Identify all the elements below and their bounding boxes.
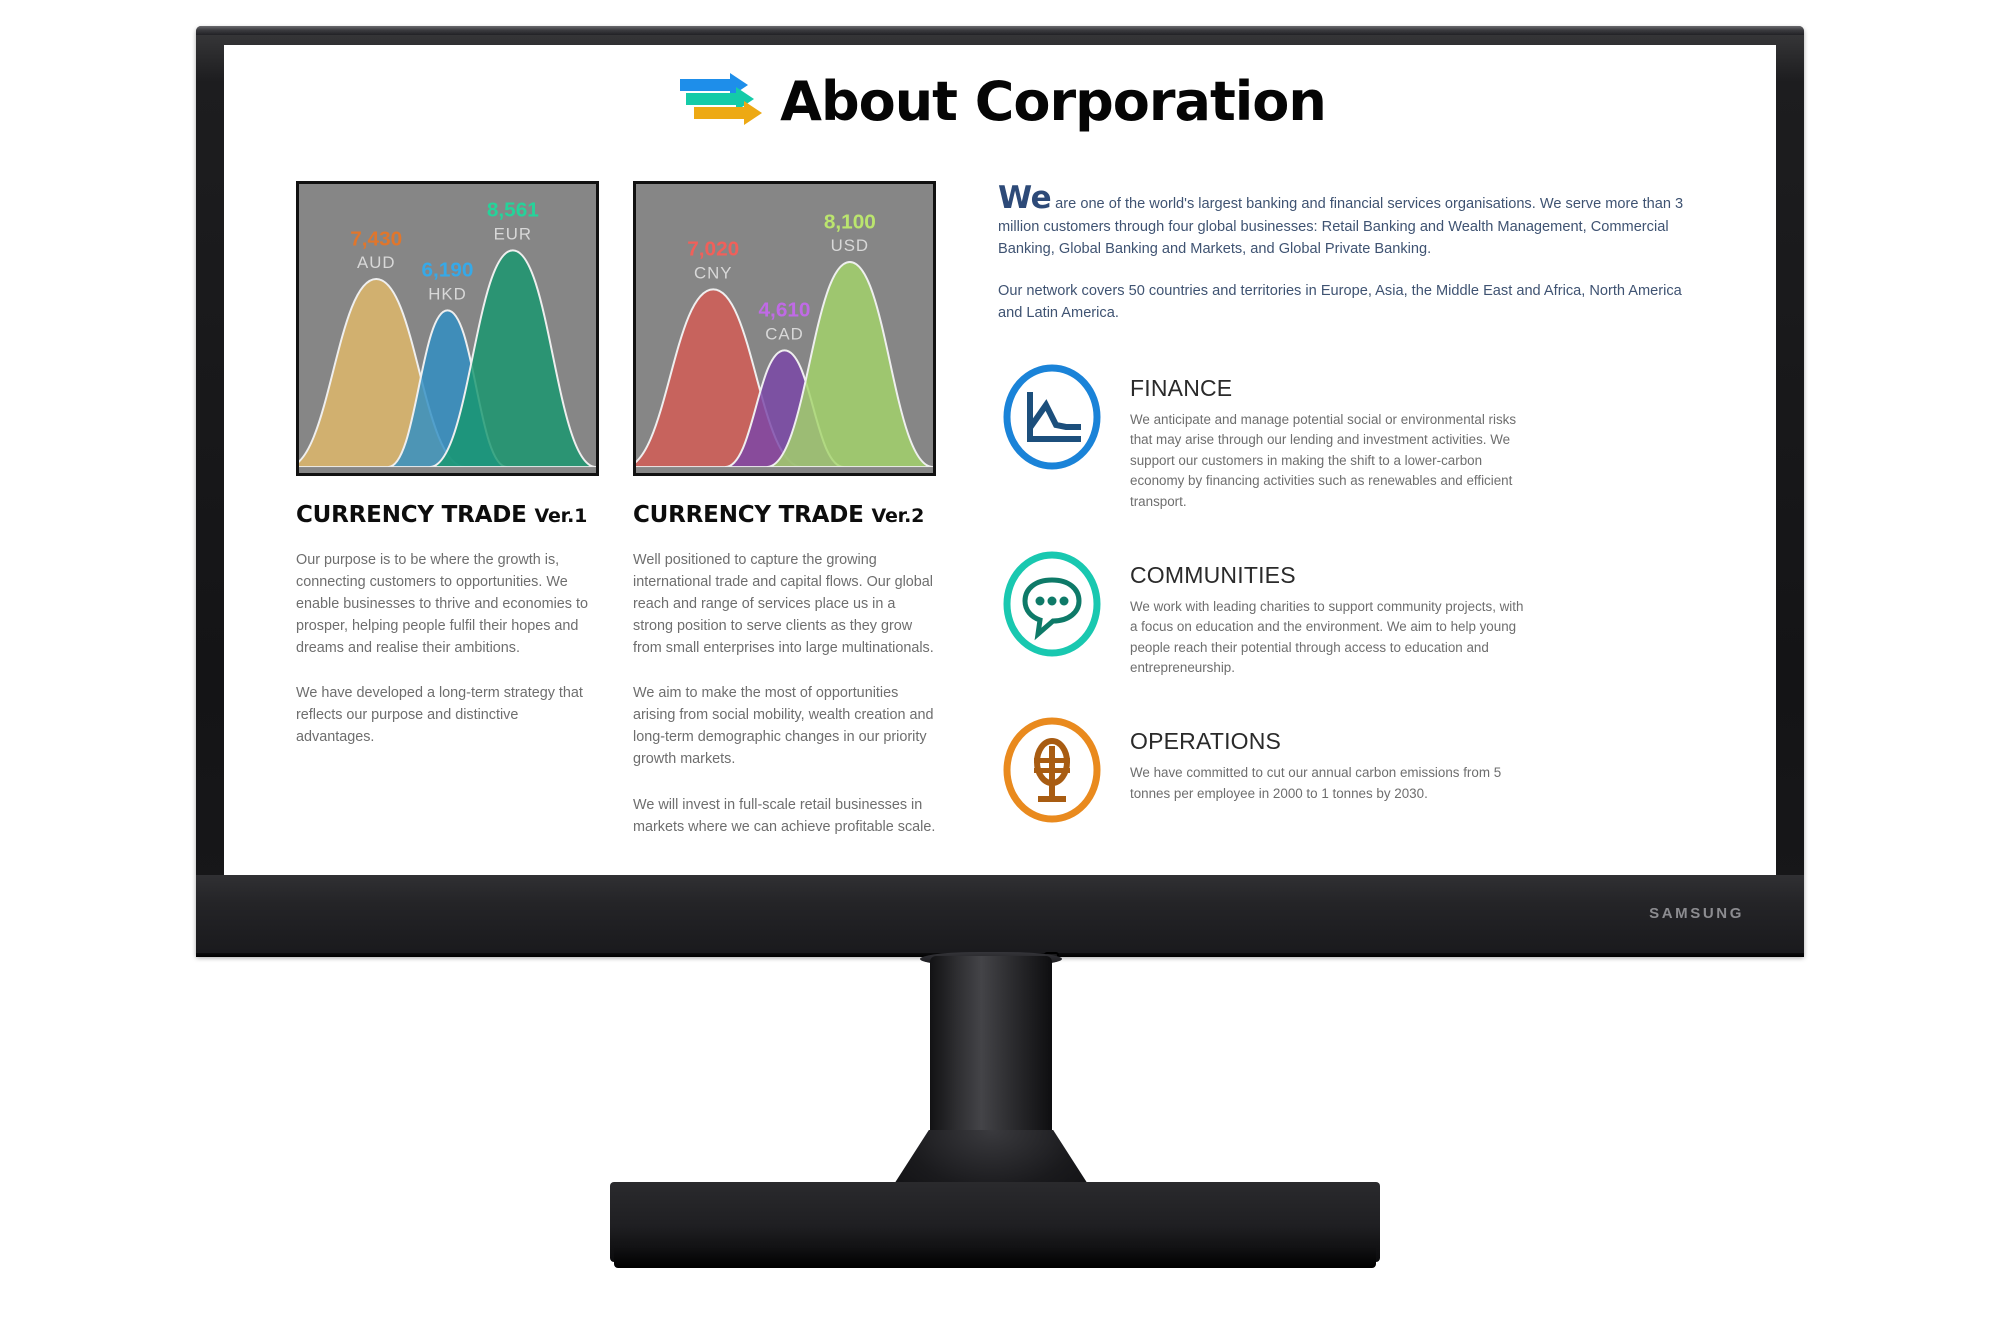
line-chart-icon — [998, 363, 1106, 471]
trade-columns: 7,430AUD6,190HKD8,561EUR CURRENCY TRADE … — [296, 181, 936, 862]
bezel-top-highlight — [196, 26, 1804, 35]
intro-lead-rest: are one of the world's largest banking a… — [998, 196, 1683, 257]
presentation-slide: About Corporation 7,430AUD6 — [224, 45, 1776, 875]
trade-heading-1-main: CURRENCY TRADE — [296, 502, 527, 528]
pillar-description: We work with leading charities to suppor… — [1130, 597, 1530, 679]
trade-column-2: 7,020CNY4,610CAD8,100USD CURRENCY TRADE … — [633, 181, 936, 862]
trade-paragraph: Well positioned to capture the growing i… — [633, 550, 936, 659]
trade-heading-1: CURRENCY TRADE Ver.1 — [296, 502, 599, 528]
currency-chart-1: 7,430AUD6,190HKD8,561EUR — [296, 181, 599, 476]
trade-paragraph: We have developed a long-term strategy t… — [296, 683, 599, 749]
currency-chart-1-labels: 7,430AUD6,190HKD8,561EUR — [299, 184, 596, 473]
speech-bubble-icon — [998, 550, 1106, 658]
trade-paragraph: We aim to make the most of opportunities… — [633, 683, 936, 771]
monitor-stand-base-edge — [614, 1248, 1376, 1268]
chart-currency-label: HKD — [428, 284, 466, 303]
slide-header: About Corporation — [224, 71, 1776, 133]
chart-currency-label: EUR — [494, 224, 532, 243]
pillar-title: OPERATIONS — [1130, 728, 1704, 755]
pillar-list: FINANCE We anticipate and manage potenti… — [998, 363, 1704, 824]
trade-heading-2-version: Ver.2 — [872, 505, 925, 527]
chart-currency-label: AUD — [357, 253, 395, 272]
chart-currency-label: CNY — [694, 263, 732, 282]
pillar-communities: COMMUNITIES We work with leading chariti… — [998, 550, 1704, 679]
monitor-assembly: About Corporation 7,430AUD6 — [0, 0, 2000, 1333]
intro-second-paragraph: Our network covers 50 countries and terr… — [998, 280, 1704, 325]
trade-paragraph: Our purpose is to be where the growth is… — [296, 550, 599, 659]
trade-heading-1-version: Ver.1 — [535, 505, 588, 527]
microphone-icon — [998, 716, 1106, 824]
chart-currency-label: CAD — [765, 324, 803, 343]
pillar-communities-text: COMMUNITIES We work with leading chariti… — [1130, 550, 1704, 679]
pillar-description: We have committed to cut our annual carb… — [1130, 763, 1530, 804]
slide-body: 7,430AUD6,190HKD8,561EUR CURRENCY TRADE … — [224, 133, 1776, 862]
monitor-screen: About Corporation 7,430AUD6 — [224, 45, 1776, 875]
pillar-description: We anticipate and manage potential socia… — [1130, 410, 1530, 512]
currency-chart-2: 7,020CNY4,610CAD8,100USD — [633, 181, 936, 476]
pillar-title: FINANCE — [1130, 375, 1704, 402]
chart-value-label: 7,020 — [687, 238, 739, 261]
chart-currency-label: USD — [831, 236, 869, 255]
chart-value-label: 7,430 — [350, 227, 402, 250]
about-column: We are one of the world's largest bankin… — [936, 181, 1704, 862]
trade-heading-2-main: CURRENCY TRADE — [633, 502, 864, 528]
chart-value-label: 6,190 — [422, 259, 474, 282]
trade-column-1: 7,430AUD6,190HKD8,561EUR CURRENCY TRADE … — [296, 181, 599, 862]
pillar-operations: OPERATIONS We have committed to cut our … — [998, 716, 1704, 824]
trade-heading-2: CURRENCY TRADE Ver.2 — [633, 502, 936, 528]
pillar-title: COMMUNITIES — [1130, 562, 1704, 589]
page-title: About Corporation — [780, 75, 1326, 129]
samsung-brand-label: SAMSUNG — [1649, 905, 1744, 922]
triple-arrow-logo-icon — [674, 71, 762, 133]
chart-value-label: 8,100 — [824, 210, 876, 233]
pillar-finance-text: FINANCE We anticipate and manage potenti… — [1130, 363, 1704, 512]
trade-paragraph: We will invest in full-scale retail busi… — [633, 795, 936, 839]
chart-value-label: 4,610 — [759, 299, 811, 322]
monitor-bottom-bezel: SAMSUNG — [196, 875, 1804, 957]
intro-lead-word: We — [998, 180, 1051, 216]
pillar-finance: FINANCE We anticipate and manage potenti… — [998, 363, 1704, 512]
intro-lead-paragraph: We are one of the world's largest bankin… — [998, 183, 1704, 261]
chart-value-label: 8,561 — [487, 199, 539, 222]
pillar-operations-text: OPERATIONS We have committed to cut our … — [1130, 716, 1704, 804]
currency-chart-2-labels: 7,020CNY4,610CAD8,100USD — [636, 184, 933, 473]
